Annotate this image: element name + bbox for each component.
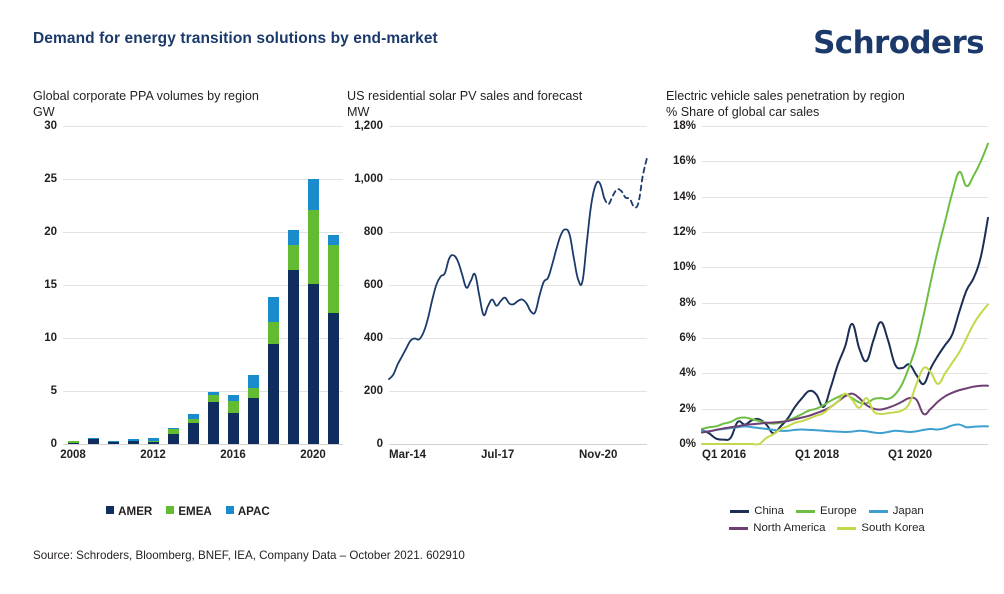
y-axis-tick-label: 2% bbox=[679, 403, 696, 415]
legend-label: AMER bbox=[118, 505, 152, 518]
bar-2015 bbox=[208, 392, 219, 444]
bar-segment-emea bbox=[188, 419, 199, 423]
bar-segment-amer bbox=[248, 398, 259, 444]
x-axis-tick-label: 2016 bbox=[220, 449, 246, 461]
legend-label: APAC bbox=[238, 505, 270, 518]
bar-2009 bbox=[88, 438, 99, 444]
gridline bbox=[63, 232, 343, 233]
x-axis-tick-label: Q1 2016 bbox=[702, 449, 746, 461]
bar-segment-amer bbox=[168, 434, 179, 444]
legend-swatch-emea bbox=[166, 506, 174, 514]
gridline bbox=[63, 179, 343, 180]
bar-segment-emea bbox=[68, 441, 79, 444]
bar-segment-apac bbox=[128, 439, 139, 441]
legend-line-south-korea bbox=[837, 527, 856, 530]
bar-2013 bbox=[168, 428, 179, 444]
bar-segment-emea bbox=[328, 245, 339, 313]
gridline bbox=[63, 391, 343, 392]
x-axis-tick-label: Q1 2020 bbox=[888, 449, 932, 461]
legend-item-north-america: North America bbox=[729, 520, 825, 537]
bar-segment-amer bbox=[188, 423, 199, 444]
y-axis-tick-label: 800 bbox=[364, 226, 383, 238]
bar-2012 bbox=[148, 438, 159, 444]
panel-us-resi-solar: US residential solar PV sales and foreca… bbox=[347, 88, 652, 444]
bar-segment-emea bbox=[288, 245, 299, 270]
legend-swatch-apac bbox=[226, 506, 234, 514]
x-axis-tick-label: Q1 2018 bbox=[795, 449, 839, 461]
x-axis-tick-label: 2012 bbox=[140, 449, 166, 461]
bar-segment-amer bbox=[268, 344, 279, 444]
series-layer bbox=[702, 126, 988, 444]
gridline bbox=[63, 126, 343, 127]
bar-segment-amer bbox=[288, 270, 299, 444]
bar-segment-amer bbox=[128, 441, 139, 444]
legend-item-china: China bbox=[730, 503, 784, 520]
panel1-title: Global corporate PPA volumes by region bbox=[33, 88, 343, 104]
bar-2017 bbox=[248, 375, 259, 444]
bar-segment-amer bbox=[148, 442, 159, 444]
bar-segment-amer bbox=[88, 439, 99, 444]
schroders-logo: Schroders bbox=[813, 25, 984, 61]
x-axis-tick-label: Mar-14 bbox=[389, 449, 426, 461]
x-axis-line bbox=[389, 444, 647, 445]
bar-segment-apac bbox=[268, 297, 279, 322]
bar-segment-amer bbox=[328, 313, 339, 444]
legend-label: EMEA bbox=[178, 505, 212, 518]
y-axis-tick-label: 18% bbox=[673, 120, 696, 132]
series-line-forecast bbox=[604, 158, 647, 208]
series-line-china bbox=[702, 218, 988, 440]
bar-segment-emea bbox=[168, 429, 179, 434]
y-axis-tick-label: 25 bbox=[44, 173, 57, 185]
y-axis-tick-label: 0% bbox=[679, 438, 696, 450]
bar-segment-emea bbox=[228, 401, 239, 414]
panel3-legend: ChinaEuropeJapanNorth AmericaSouth Korea bbox=[666, 503, 988, 537]
bar-segment-apac bbox=[88, 438, 99, 439]
legend-row: ChinaEuropeJapan bbox=[666, 503, 988, 520]
panel1-legend: AMEREMEAAPAC bbox=[33, 505, 343, 518]
y-axis-tick-label: 0 bbox=[377, 438, 383, 450]
bar-chart: 0510152025302008201220162020 bbox=[63, 126, 343, 444]
gridline bbox=[63, 338, 343, 339]
bar-2014 bbox=[188, 414, 199, 444]
y-axis-tick-label: 1,200 bbox=[354, 120, 383, 132]
legend-line-north-america bbox=[729, 527, 748, 530]
panel2-unit: MW bbox=[347, 104, 652, 120]
bar-segment-emea bbox=[248, 388, 259, 399]
panel1-plot-area: 0510152025302008201220162020 bbox=[33, 126, 343, 444]
y-axis-tick-label: 600 bbox=[364, 279, 383, 291]
x-axis-tick-label: 2008 bbox=[60, 449, 86, 461]
bar-2020 bbox=[308, 179, 319, 444]
legend-item-south-korea: South Korea bbox=[837, 520, 924, 537]
y-axis-tick-label: 5 bbox=[51, 385, 57, 397]
bar-2018 bbox=[268, 297, 279, 444]
legend-line-europe bbox=[796, 510, 815, 513]
panel3-unit: % Share of global car sales bbox=[666, 104, 988, 120]
bar-2016 bbox=[228, 395, 239, 444]
bar-segment-amer bbox=[228, 413, 239, 444]
legend-label: South Korea bbox=[861, 520, 924, 537]
y-axis-tick-label: 400 bbox=[364, 332, 383, 344]
y-axis-tick-label: 30 bbox=[44, 120, 57, 132]
bar-segment-apac bbox=[148, 438, 159, 442]
legend-label: Europe bbox=[820, 503, 857, 520]
panel-ppa-volumes: Global corporate PPA volumes by region G… bbox=[33, 88, 343, 444]
series-line-europe bbox=[702, 144, 988, 429]
panel2-title: US residential solar PV sales and foreca… bbox=[347, 88, 652, 104]
bar-segment-amer bbox=[108, 442, 119, 444]
panel3-title: Electric vehicle sales penetration by re… bbox=[666, 88, 988, 104]
y-axis-tick-label: 12% bbox=[673, 226, 696, 238]
y-axis-tick-label: 16% bbox=[673, 155, 696, 167]
y-axis-tick-label: 14% bbox=[673, 191, 696, 203]
series-line-us-residential-solar-pv-sales bbox=[389, 182, 604, 379]
bar-segment-apac bbox=[288, 230, 299, 245]
y-axis-tick-label: 6% bbox=[679, 332, 696, 344]
panel3-plot-area: 0%2%4%6%8%10%12%14%16%18%Q1 2016Q1 2018Q… bbox=[666, 126, 988, 444]
bar-segment-apac bbox=[208, 392, 219, 396]
bar-segment-apac bbox=[308, 179, 319, 210]
legend-item-emea: EMEA bbox=[166, 505, 212, 518]
bar-2008 bbox=[68, 441, 79, 444]
infographic-page: Demand for energy transition solutions b… bbox=[0, 0, 1004, 594]
legend-label: Japan bbox=[893, 503, 924, 520]
y-axis-tick-label: 200 bbox=[364, 385, 383, 397]
legend-item-amer: AMER bbox=[106, 505, 152, 518]
bar-segment-emea bbox=[208, 395, 219, 401]
line-chart-solar: 02004006008001,0001,200Mar-14Jul-17Nov-2… bbox=[389, 126, 647, 444]
legend-line-japan bbox=[869, 510, 888, 513]
bar-segment-emea bbox=[268, 322, 279, 344]
panel-ev-penetration: Electric vehicle sales penetration by re… bbox=[666, 88, 988, 444]
x-axis-tick-label: Jul-17 bbox=[481, 449, 514, 461]
bar-segment-apac bbox=[188, 414, 199, 419]
y-axis-tick-label: 8% bbox=[679, 297, 696, 309]
legend-line-china bbox=[730, 510, 749, 513]
x-axis-line bbox=[63, 444, 343, 445]
source-note: Source: Schroders, Bloomberg, BNEF, IEA,… bbox=[33, 549, 465, 562]
bar-segment-apac bbox=[108, 441, 119, 442]
bar-segment-emea bbox=[308, 210, 319, 284]
series-layer bbox=[389, 126, 647, 444]
legend-label: China bbox=[754, 503, 784, 520]
bar-2021 bbox=[328, 235, 339, 444]
bar-segment-amer bbox=[208, 402, 219, 444]
legend-item-apac: APAC bbox=[226, 505, 270, 518]
bar-segment-amer bbox=[308, 284, 319, 444]
page-title: Demand for energy transition solutions b… bbox=[33, 30, 438, 48]
y-axis-tick-label: 20 bbox=[44, 226, 57, 238]
y-axis-tick-label: 10 bbox=[44, 332, 57, 344]
gridline bbox=[63, 285, 343, 286]
legend-item-japan: Japan bbox=[869, 503, 924, 520]
legend-swatch-amer bbox=[106, 506, 114, 514]
bar-segment-apac bbox=[248, 375, 259, 388]
legend-label: North America bbox=[753, 520, 825, 537]
bar-2019 bbox=[288, 230, 299, 444]
bar-segment-apac bbox=[228, 395, 239, 401]
x-axis-tick-label: Nov-20 bbox=[579, 449, 617, 461]
panel2-plot-area: 02004006008001,0001,200Mar-14Jul-17Nov-2… bbox=[347, 126, 652, 444]
y-axis-tick-label: 15 bbox=[44, 279, 57, 291]
y-axis-tick-label: 4% bbox=[679, 367, 696, 379]
legend-item-europe: Europe bbox=[796, 503, 857, 520]
bar-segment-apac bbox=[168, 428, 179, 429]
bar-segment-apac bbox=[328, 235, 339, 245]
series-line-south-korea bbox=[702, 304, 988, 444]
bar-2011 bbox=[128, 439, 139, 444]
panel1-unit: GW bbox=[33, 104, 343, 120]
x-axis-tick-label: 2020 bbox=[300, 449, 326, 461]
y-axis-tick-label: 10% bbox=[673, 261, 696, 273]
line-chart-ev: 0%2%4%6%8%10%12%14%16%18%Q1 2016Q1 2018Q… bbox=[702, 126, 988, 444]
bar-2010 bbox=[108, 441, 119, 444]
legend-row: North AmericaSouth Korea bbox=[666, 520, 988, 537]
y-axis-tick-label: 0 bbox=[51, 438, 57, 450]
y-axis-tick-label: 1,000 bbox=[354, 173, 383, 185]
